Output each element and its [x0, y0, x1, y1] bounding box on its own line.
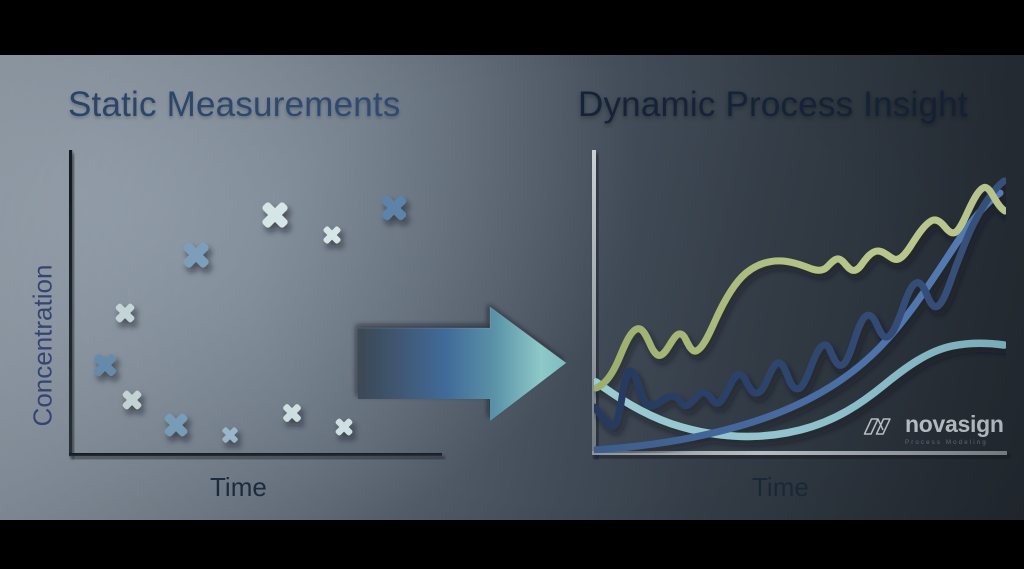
left-plot-y-axis-label: Concentration: [28, 246, 59, 446]
scatter-point: [175, 234, 217, 276]
series-olive-trend: [596, 187, 1005, 388]
novasign-monogram-icon: [862, 416, 896, 442]
right-plot-x-axis-label: Time: [752, 472, 809, 503]
scatter-markers: [87, 188, 415, 448]
scatter-point: [217, 422, 243, 448]
letterbox-bar-bottom: [0, 520, 1024, 569]
scatter-point: [87, 347, 124, 384]
scatter-point: [157, 406, 195, 444]
novasign-tagline: Process Modeling: [905, 439, 1004, 446]
series-navy-sawtooth: [594, 181, 1004, 426]
slide-canvas: Static Measurements Dynamic Process Insi…: [0, 0, 1024, 569]
scatter-point: [277, 398, 307, 428]
right-plot-curves: [594, 181, 1005, 450]
left-plot-axes: [69, 150, 442, 456]
scatter-point: [116, 384, 147, 415]
transition-arrow: [358, 307, 566, 421]
left-plot-x-axis-label: Time: [210, 472, 267, 503]
scatter-point: [318, 221, 347, 250]
right-panel-title: Dynamic Process Insight: [578, 85, 968, 125]
novasign-logo: novasign Process Modeling: [862, 413, 1004, 446]
novasign-logo-text: novasign Process Modeling: [905, 413, 1004, 446]
novasign-wordmark: novasign: [905, 413, 1004, 436]
slide-content-area: Static Measurements Dynamic Process Insi…: [0, 55, 1024, 520]
scatter-point: [109, 297, 140, 328]
scatter-point: [330, 413, 358, 441]
letterbox-bar-top: [0, 0, 1024, 55]
scatter-point: [254, 194, 296, 236]
left-panel-title: Static Measurements: [68, 85, 401, 125]
scatter-point: [374, 188, 414, 228]
